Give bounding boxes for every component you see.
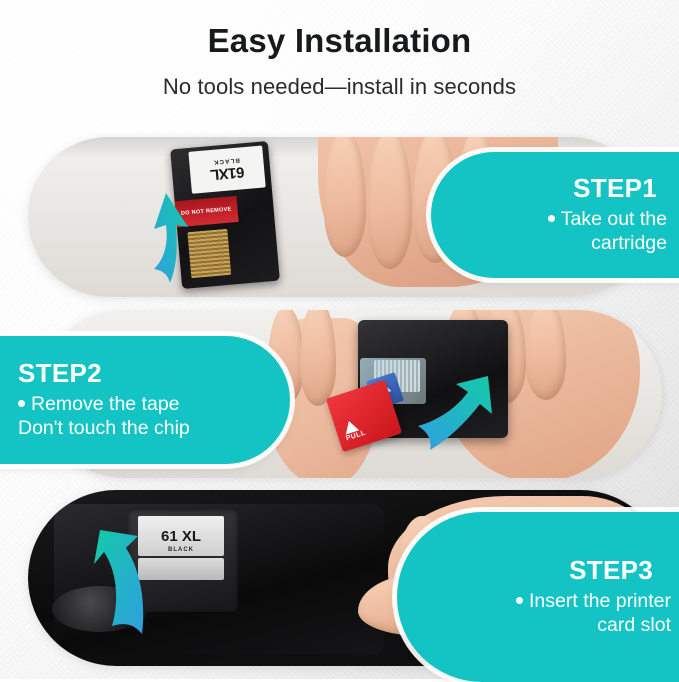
bullet-icon: [516, 597, 523, 604]
step-2-line-2: Don't touch the chip: [18, 417, 190, 441]
step-2-description: Remove the tape Don't touch the chip: [18, 393, 190, 441]
step-3-description: Insert the printer card slot: [516, 590, 671, 638]
finger: [300, 310, 336, 406]
bullet-icon: [548, 215, 555, 222]
step-3-label: STEP3: [569, 557, 653, 584]
cartridge-label-color: BLACK: [168, 547, 194, 553]
bullet-icon: [18, 400, 25, 407]
ink-cartridge: DO NOT REMOVE 61XL BLACK: [170, 141, 280, 289]
step-1-line-2: cartridge: [548, 232, 667, 256]
step-2-label: STEP2: [18, 360, 102, 387]
cartridge-label: 61 XL BLACK: [138, 516, 224, 556]
step-1-line-1: Take out the: [548, 208, 667, 232]
step-3-line-1: Insert the printer: [516, 590, 671, 614]
cartridge-label-number: 61 XL: [161, 529, 201, 544]
finger: [324, 137, 366, 257]
header: Easy Installation No tools needed—instal…: [0, 22, 679, 99]
page-subtitle: No tools needed—install in seconds: [0, 74, 679, 99]
step-1-label: STEP1: [573, 175, 657, 202]
step-2-line-1: Remove the tape: [18, 393, 190, 417]
cartridge-label-number: 61XL: [210, 165, 245, 183]
step-2-callout: STEP2 Remove the tape Don't touch the ch…: [0, 336, 290, 464]
finger: [368, 137, 412, 269]
step-1-callout: STEP1 Take out the cartridge: [431, 152, 679, 278]
step-3-callout: STEP3 Insert the printer card slot: [397, 512, 679, 682]
finger: [526, 310, 566, 400]
cartridge-label: 61XL BLACK: [188, 146, 265, 194]
page-title: Easy Installation: [0, 22, 679, 60]
cartridge-label-secondary: [138, 558, 224, 580]
step-3-line-2: card slot: [516, 614, 671, 638]
cartridge-warning-text: DO NOT REMOVE: [181, 206, 232, 216]
cartridge-nozzle-contacts: [187, 229, 231, 278]
step-1-description: Take out the cartridge: [548, 208, 667, 256]
cartridge-warning-band: DO NOT REMOVE: [175, 196, 239, 227]
